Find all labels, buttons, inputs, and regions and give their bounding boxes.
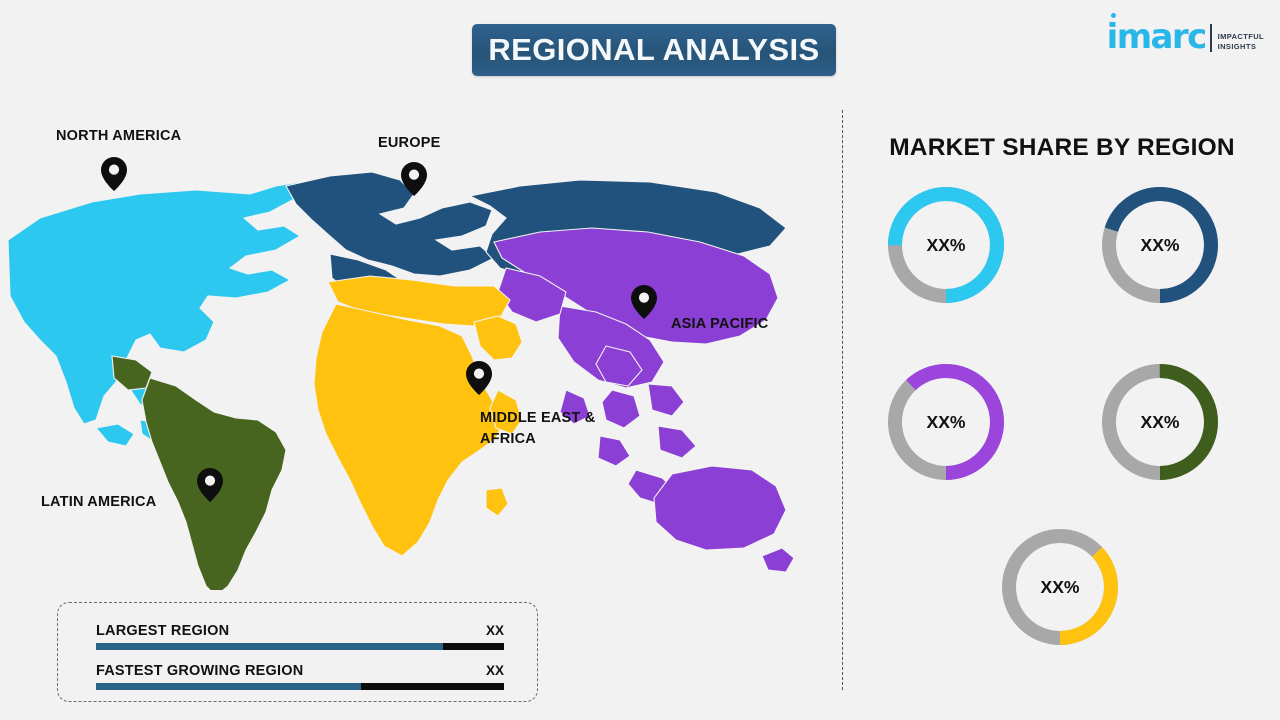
section-divider <box>842 110 843 690</box>
donut-chart-europe[interactable]: XX% <box>1098 183 1222 307</box>
map-label-latin-america: LATIN AMERICA <box>41 492 156 513</box>
logo-tagline-line2: INSIGHTS <box>1218 42 1264 52</box>
summary-legend-box: LARGEST REGION XX FASTEST GROWING REGION… <box>57 602 538 702</box>
legend-label-fastest-growing-region: FASTEST GROWING REGION <box>96 663 303 679</box>
imarc-logo: imarc IMPACTFUL INSIGHTS <box>1107 20 1264 54</box>
legend-label-largest-region: LARGEST REGION <box>96 623 229 639</box>
map-pin-asia-pacific-icon[interactable] <box>631 285 657 319</box>
legend-value-largest-region: XX <box>486 623 504 638</box>
map-pin-latin-america-icon[interactable] <box>197 468 223 502</box>
donut-chart-north-america[interactable]: XX% <box>884 183 1008 307</box>
map-pin-middle-east-africa-icon[interactable] <box>466 361 492 395</box>
legend-bar-fill-fastest-growing-region <box>96 683 361 690</box>
legend-row-fastest-growing-region[interactable]: FASTEST GROWING REGION XX <box>96 663 504 690</box>
map-region-asia-pacific[interactable] <box>494 228 794 572</box>
logo-divider <box>1210 24 1212 52</box>
logo-word-text: imarc <box>1107 17 1206 57</box>
donut-chart-asia-pacific[interactable]: XX% <box>884 360 1008 484</box>
logo-wordmark: imarc <box>1107 20 1206 54</box>
map-pin-north-america-icon[interactable] <box>101 157 127 191</box>
donut-value-middle-east-africa: XX% <box>998 525 1122 649</box>
panel-title: MARKET SHARE BY REGION <box>860 134 1264 162</box>
page-title-banner: REGIONAL ANALYSIS <box>472 24 836 76</box>
logo-tagline-line1: IMPACTFUL <box>1218 32 1264 42</box>
legend-value-fastest-growing-region: XX <box>486 663 504 678</box>
map-label-north-america: NORTH AMERICA <box>56 126 181 147</box>
legend-row-largest-region[interactable]: LARGEST REGION XX <box>96 623 504 650</box>
map-label-middle-east-africa: MIDDLE EAST & AFRICA <box>480 408 595 450</box>
donut-chart-middle-east-africa[interactable]: XX% <box>998 525 1122 649</box>
legend-bar-largest-region <box>96 643 504 650</box>
donut-value-asia-pacific: XX% <box>884 360 1008 484</box>
infographic-canvas: REGIONAL ANALYSIS imarc IMPACTFUL INSIGH… <box>0 0 1280 720</box>
logo-tagline: IMPACTFUL INSIGHTS <box>1218 32 1264 54</box>
page-title: REGIONAL ANALYSIS <box>488 32 819 68</box>
donut-value-north-america: XX% <box>884 183 1008 307</box>
donut-chart-latin-america[interactable]: XX% <box>1098 360 1222 484</box>
donut-value-latin-america: XX% <box>1098 360 1222 484</box>
logo-dot-icon <box>1111 13 1116 18</box>
legend-bar-fill-largest-region <box>96 643 443 650</box>
map-label-asia-pacific: ASIA PACIFIC <box>671 314 768 335</box>
donut-value-europe: XX% <box>1098 183 1222 307</box>
map-pin-europe-icon[interactable] <box>401 162 427 196</box>
legend-bar-fastest-growing-region <box>96 683 504 690</box>
map-label-europe: EUROPE <box>378 133 440 154</box>
